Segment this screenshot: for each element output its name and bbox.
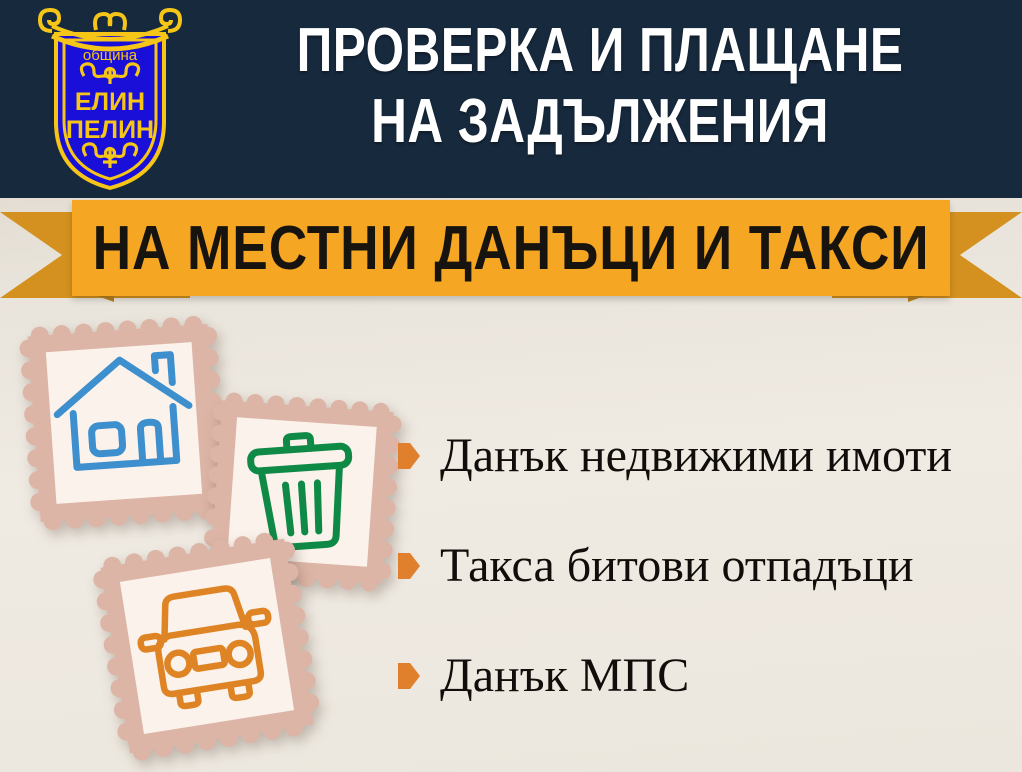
arrow-bullet-icon <box>398 553 420 579</box>
crest-name-line-1: ЕЛИН <box>75 88 145 116</box>
crest-name-line-2: ПЕЛИН <box>66 116 154 144</box>
page-title-line-2: НА ЗАДЪЛЖЕНИЯ <box>268 87 932 158</box>
arrow-bullet-icon <box>398 663 420 689</box>
list-item-label: Данък МПС <box>440 652 689 700</box>
list-item-label: Данък недвижими имоти <box>440 432 952 480</box>
ribbon-banner: НА МЕСТНИ ДАНЪЦИ И ТАКСИ <box>0 198 1022 310</box>
page-title: ПРОВЕРКА И ПЛАЩАНЕ НА ЗАДЪЛЖЕНИЯ <box>268 16 932 157</box>
municipality-coat-of-arms: община ЕЛИН ПЕЛИН <box>36 6 184 192</box>
page-title-line-1: ПРОВЕРКА И ПЛАЩАНЕ <box>268 16 932 87</box>
poster-canvas: НА МЕСТНИ ДАНЪЦИ И ТАКСИ ПРОВЕРКА И ПЛАЩ… <box>0 0 1022 772</box>
ribbon-subtitle: НА МЕСТНИ ДАНЪЦИ И ТАКСИ <box>133 200 888 296</box>
list-item[interactable]: Данък МПС <box>398 648 1018 704</box>
list-item[interactable]: Такса битови отпадъци <box>398 538 1018 594</box>
stamp-card-vehicle-tax <box>92 528 322 764</box>
list-item-label: Такса битови отпадъци <box>440 542 914 590</box>
crest-municipality-word: община <box>83 47 138 64</box>
tax-type-list: Данък недвижими имоти Такса битови отпад… <box>398 428 1018 704</box>
list-item[interactable]: Данък недвижими имоти <box>398 428 1018 484</box>
stamp-card-real-estate <box>18 312 230 534</box>
arrow-bullet-icon <box>398 443 420 469</box>
